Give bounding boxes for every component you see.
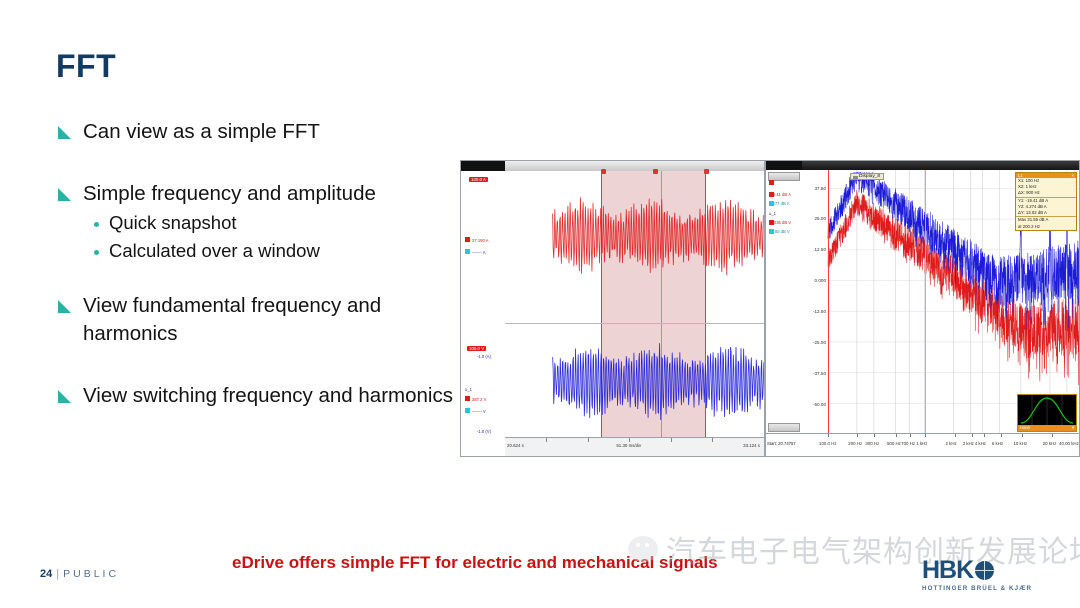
window-function-title-bar: Hann ▾ — [1018, 425, 1076, 431]
fft-x-tick-label: 10 kHz — [1013, 441, 1027, 446]
fft-x-tick-label: 1 kHz — [916, 441, 927, 446]
fft-x-tick-label: 4 kHz — [975, 441, 986, 446]
fft-x-tick — [972, 434, 973, 437]
fft-cursor-info-box: L1 × X1: 100 Hz X2: 1 kHz ΔX: 900 Hz Y1:… — [1015, 172, 1077, 231]
fft-x-tick — [910, 434, 911, 437]
chevron-down-icon[interactable]: ▾ — [1072, 425, 1074, 431]
triangle-bullet-icon — [58, 300, 71, 313]
scope-cursor-markers[interactable] — [505, 169, 764, 174]
bullet-text: View switching frequency and harmonics — [83, 382, 453, 410]
fft-x-tick-label: 700 Hz — [901, 441, 915, 446]
bullet-text: View fundamental frequency and harmonics — [83, 292, 458, 347]
fft-x-tick — [874, 434, 875, 437]
bullet-item-4: View switching frequency and harmonics — [58, 382, 458, 410]
page-title: FFT — [56, 48, 116, 85]
scope-channel-unit-current: ------- A — [472, 250, 486, 255]
slide: FFT Can view as a simple FFT Simple freq… — [0, 0, 1080, 608]
fft-x-tick-label: 200 Hz — [848, 441, 862, 446]
window-curve-plot — [1018, 395, 1076, 425]
bullet-list: Can view as a simple FFT Simple frequenc… — [58, 118, 458, 413]
scope-channel-value-current: 37.190 A — [472, 238, 489, 243]
fft-legend-panel: -19.41 dB A 4.277 dB A u_1 -3.036 dB V 2… — [766, 170, 803, 434]
fft-x-tick-label: 6 kHz — [992, 441, 1003, 446]
cursor-marker-mid[interactable] — [653, 169, 658, 174]
channel-color-swatch-cyan — [465, 249, 470, 254]
fft-status-text: Start: 20.74757 — [767, 441, 796, 446]
fft-frequency-axis: 100.0 Hz200 Hz300 Hz500 Hz700 Hz1 kHz2 k… — [802, 433, 1079, 456]
fft-screenshot: -19.41 dB A 4.277 dB A u_1 -3.036 dB V 2… — [765, 160, 1080, 457]
fft-x-tick-label: 100.0 Hz — [819, 441, 837, 446]
fft-status-bar: Start: 20.74757 — [766, 433, 802, 456]
scope-y-label-top: -1.0 (A) — [477, 354, 491, 359]
scope-range-tag-current: 100.0 A — [469, 177, 488, 182]
close-icon[interactable]: × — [1071, 173, 1074, 178]
oscilloscope-screenshot: 100.0 A 37.190 A ------- A 100.0 V -1.0 … — [460, 160, 765, 457]
fft-legend-row-4: -3.036 dB V — [769, 220, 791, 225]
fft-x-tick — [828, 434, 829, 437]
scope-y-label-bottom: -1.0 (V) — [477, 429, 491, 434]
classification-label: PUBLIC — [63, 568, 119, 580]
fft-legend-row-5: 28.60 dB V — [769, 229, 790, 234]
sub-bullet-item: Quick snapshot — [94, 211, 458, 236]
axis-tick — [671, 438, 672, 442]
triangle-bullet-icon — [58, 126, 71, 139]
scope-range-tag-voltage: 100.0 V — [467, 346, 486, 351]
scope-plot-area[interactable] — [505, 171, 764, 438]
channel-color-swatch-cyan — [465, 408, 470, 413]
legend-color-swatch — [769, 229, 774, 234]
fft-cursor-x2[interactable] — [925, 170, 926, 434]
page-number: 24 — [40, 568, 52, 580]
bell-curve-icon — [1018, 395, 1076, 425]
scope-time-axis: 20.624 s 51.30 ms/div 33.124 s — [505, 437, 764, 456]
sub-bullet-text: Quick snapshot — [109, 211, 237, 236]
axis-tick — [712, 438, 713, 442]
axis-tick — [546, 438, 547, 442]
fft-x-tick — [1022, 434, 1023, 437]
globe-icon — [975, 561, 994, 580]
fft-legend-row-3: u_1 — [769, 211, 776, 216]
fft-x-tick — [857, 434, 858, 437]
hbk-logo-text: HBK — [922, 558, 973, 583]
sub-bullet-text: Calculated over a window — [109, 239, 320, 264]
footer: 24|PUBLIC — [40, 568, 119, 580]
hbk-logo-tagline: HOTTINGER BRÜEL & KJÆR — [922, 585, 1032, 592]
fft-x-tick-label: 2 kHz — [946, 441, 957, 446]
axis-tick — [588, 438, 589, 442]
axis-tick — [629, 438, 630, 442]
bullet-item-2: Simple frequency and amplitude — [58, 180, 458, 208]
bullet-item-3: View fundamental frequency and harmonics — [58, 292, 458, 347]
legend-color-swatch — [769, 192, 774, 197]
hbk-logo: HBK HOTTINGER BRÜEL & KJÆR — [922, 558, 1032, 592]
window-function-name: Hann — [1020, 425, 1030, 431]
legend-color-swatch — [769, 201, 774, 206]
fft-window-titlebar — [766, 161, 802, 170]
triangle-bullet-icon — [58, 390, 71, 403]
fft-x-tick — [896, 434, 897, 437]
fft-x-tick — [925, 434, 926, 437]
fft-x-tick-label: 500 Hz — [887, 441, 901, 446]
cursor-marker-left[interactable] — [601, 169, 606, 174]
hbk-logo-mark: HBK — [922, 558, 1032, 583]
scope-axis-label-start: 20.624 s — [507, 443, 524, 448]
fft-plot-area[interactable]: 37.5025.0012.500.000-12.50-25.00-37.50-5… — [802, 170, 1079, 434]
sub-bullet-list: Quick snapshot Calculated over a window — [94, 211, 458, 264]
fft-legend-channel-name: u_1 — [769, 211, 776, 216]
fft-legend-row-1: -19.41 dB A — [769, 192, 791, 197]
dot-bullet-icon — [94, 250, 99, 255]
scope-channel-value-voltage: 387.2 V — [472, 397, 486, 402]
fft-x-tick-label: 3 kHz — [963, 441, 974, 446]
scope-channel-panel: 100.0 A 37.190 A ------- A 100.0 V -1.0 … — [461, 171, 506, 438]
legend-color-swatch — [769, 180, 774, 185]
fft-x-tick — [984, 434, 985, 437]
scope-axis-label-end: 33.124 s — [743, 443, 760, 448]
dot-bullet-icon — [94, 222, 99, 227]
fft-x-tick — [1052, 434, 1053, 437]
footer-separator: | — [56, 568, 59, 580]
channel-color-swatch-red — [465, 396, 470, 401]
triangle-bullet-icon — [58, 188, 71, 201]
bullet-text: Can view as a simple FFT — [83, 118, 320, 146]
slide-caption: eDrive offers simple FFT for electric an… — [232, 553, 718, 573]
fft-x-tick — [1001, 434, 1002, 437]
sub-bullet-item: Calculated over a window — [94, 239, 458, 264]
fft-window-function-box: Hann ▾ — [1017, 394, 1077, 432]
fft-info-row: at 200.2 Hz — [1016, 224, 1076, 230]
bullet-text: Simple frequency and amplitude — [83, 180, 376, 208]
scope-channel-name-voltage: u_1 — [465, 387, 472, 392]
legend-color-swatch — [769, 220, 774, 225]
fft-x-tick-label: 40.00 kHz — [1059, 441, 1079, 446]
scope-channel-unit-voltage: ------- V — [472, 409, 486, 414]
fft-x-tick — [955, 434, 956, 437]
fft-display-tab[interactable]: Display_8 — [850, 173, 884, 180]
fft-info-row: Max 31.55 dB A — [1016, 216, 1076, 223]
fft-legend-row-2: 4.277 dB A — [769, 201, 790, 206]
fft-x-tick-label: 300 Hz — [865, 441, 879, 446]
scope-waveform-traces — [505, 171, 764, 438]
fft-panel-button-bottom[interactable] — [768, 423, 800, 432]
fft-cursor-x1[interactable] — [828, 170, 829, 434]
scope-axis-label-scale: 51.30 ms/div — [616, 443, 641, 448]
cursor-marker-right[interactable] — [704, 169, 709, 174]
fft-toolbar — [802, 161, 1079, 170]
fft-info-row: Y1: -19.41 dB A — [1016, 197, 1076, 204]
bullet-item-1: Can view as a simple FFT — [58, 118, 458, 146]
scope-window-titlebar — [461, 161, 505, 171]
channel-color-swatch-red — [465, 237, 470, 242]
fft-x-tick-label: 20 kHz — [1043, 441, 1057, 446]
